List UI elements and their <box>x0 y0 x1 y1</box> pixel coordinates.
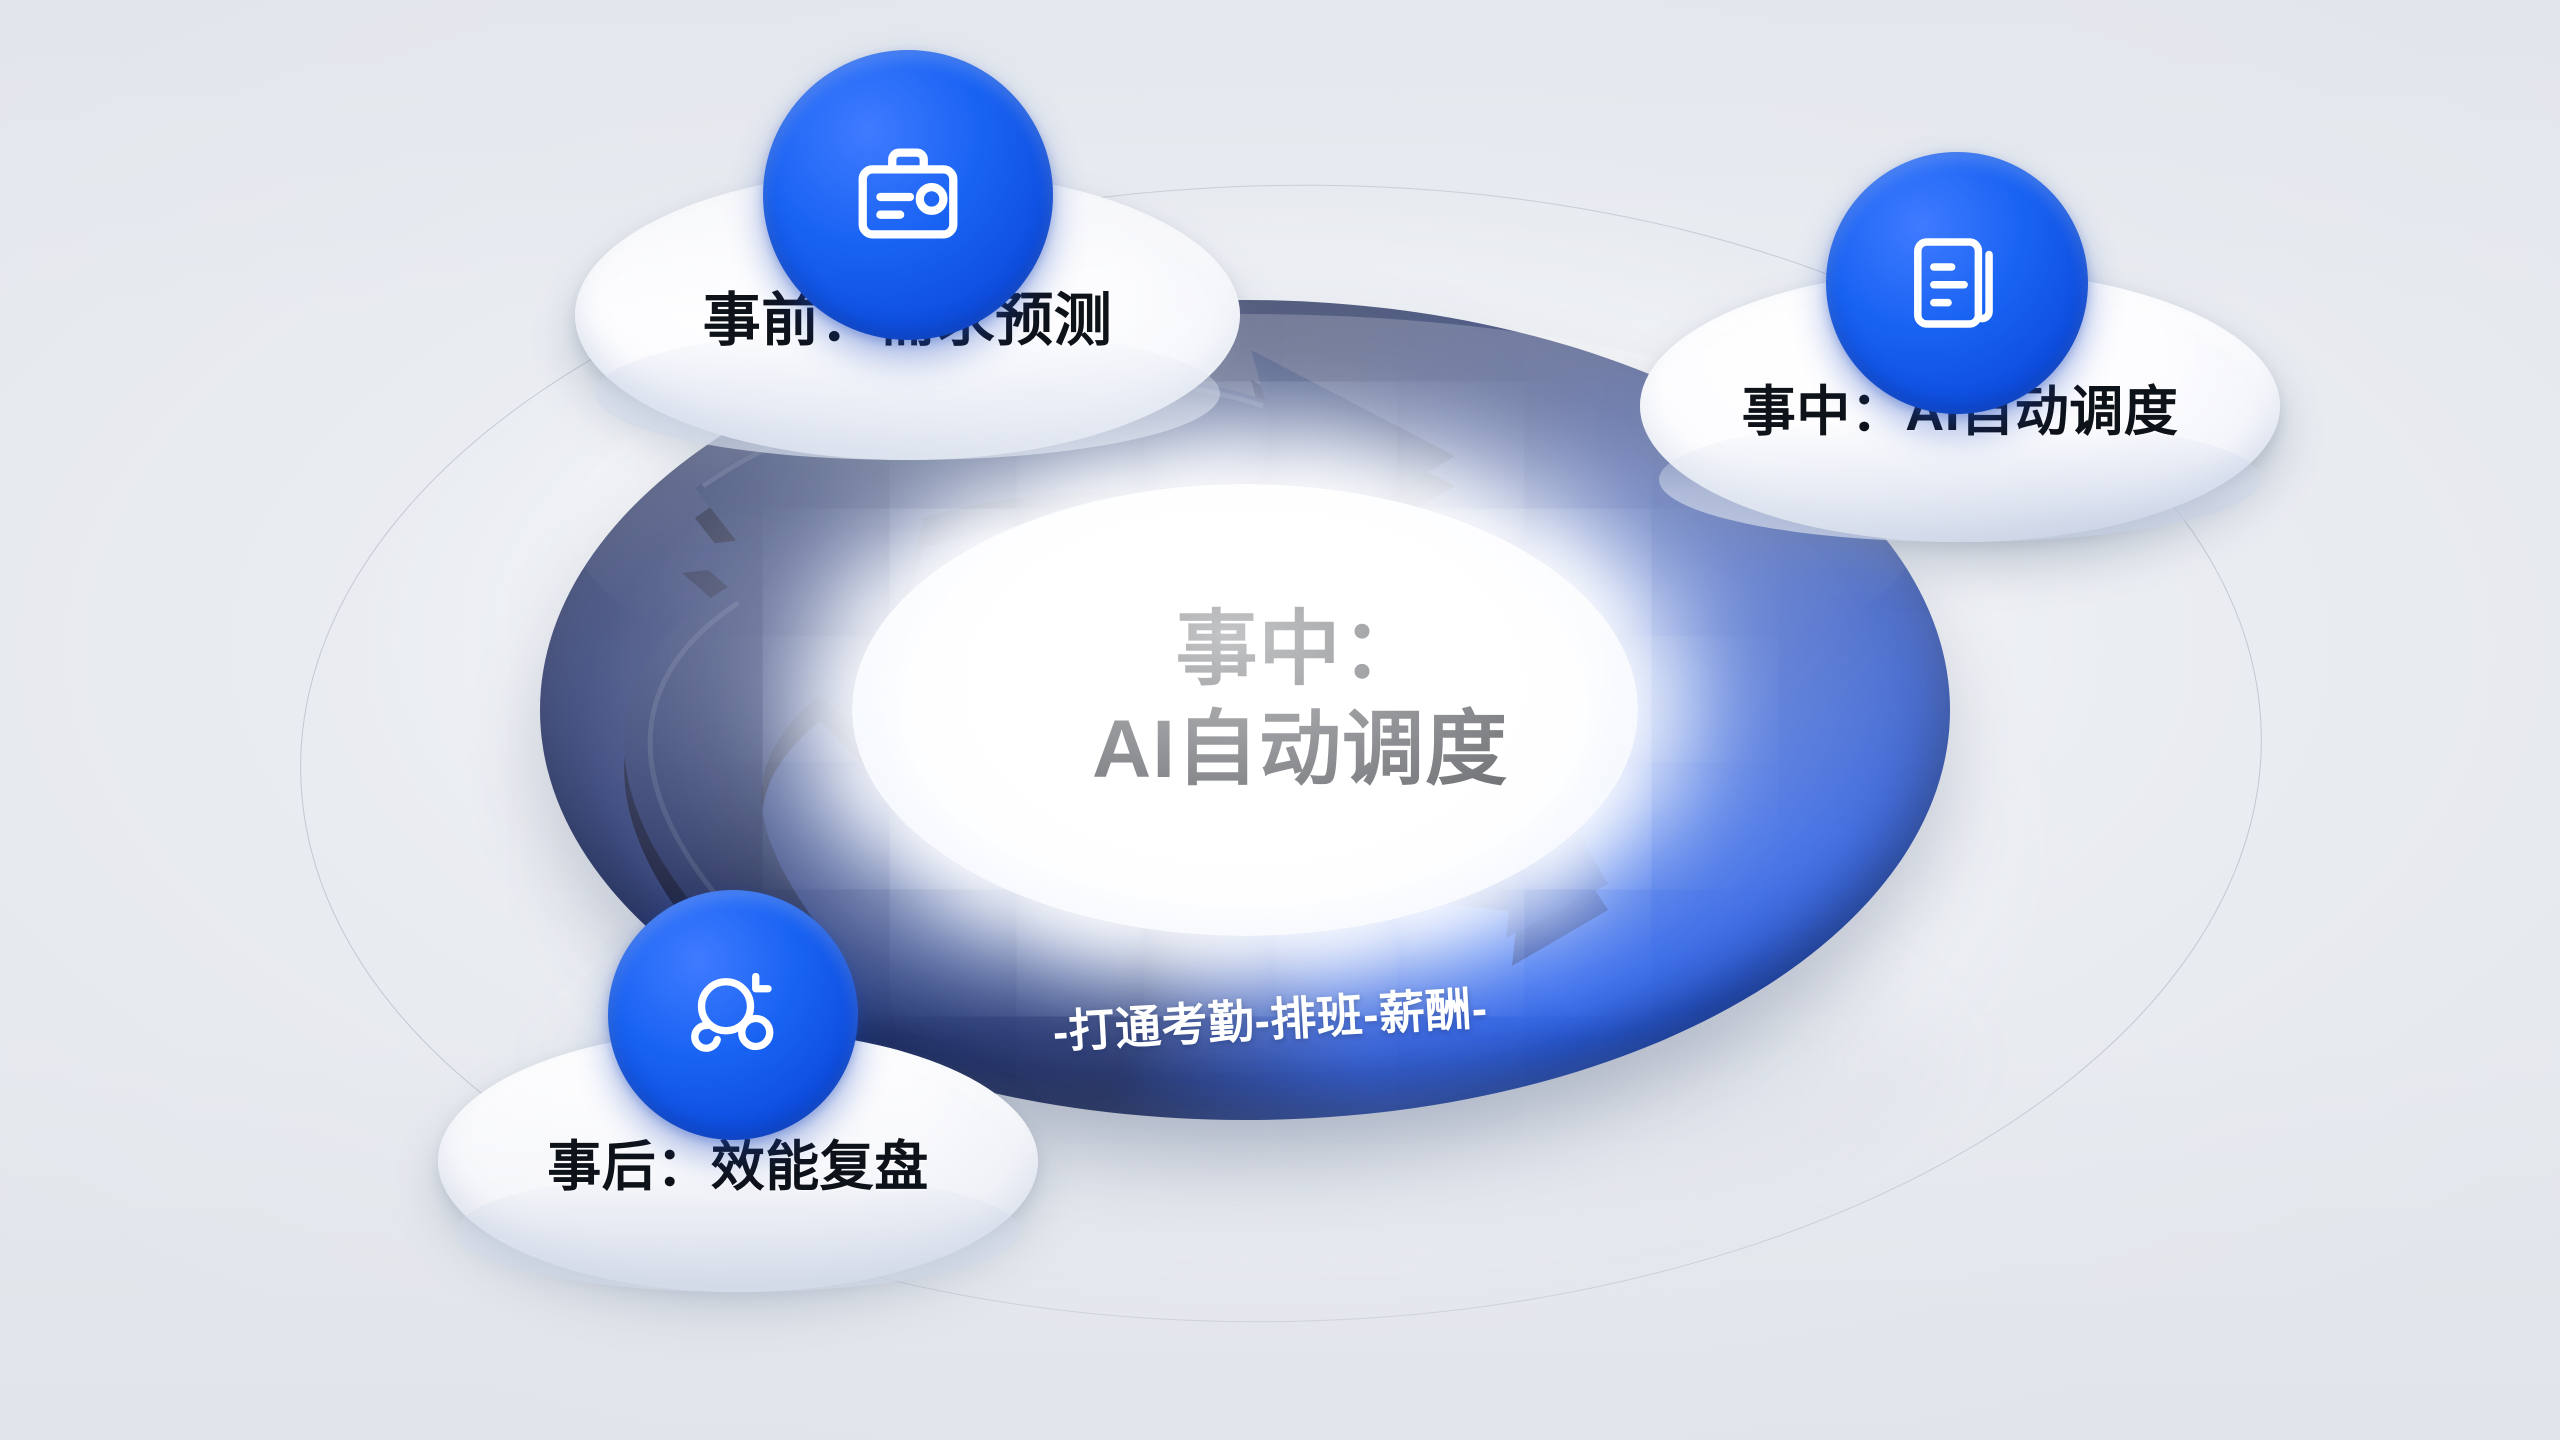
center-label-line1: 事中： <box>1175 604 1424 695</box>
briefcase-badge-icon <box>763 50 1053 340</box>
analytics-bubbles-icon <box>608 890 858 1140</box>
node-card-pre[interactable]: 事前：需求预测 <box>575 170 1240 460</box>
node-card-post[interactable]: 事后：效能复盘 <box>438 1030 1038 1292</box>
center-label-line2: AI自动调度 <box>1010 700 1590 800</box>
document-report-icon <box>1826 152 2088 414</box>
center-label: 事中： AI自动调度 <box>1010 600 1590 800</box>
node-card-mid[interactable]: 事中：AI自动调度 <box>1640 270 2280 542</box>
diagram-canvas: -打通考勤-排班-薪酬- 事中： AI自动调度 事前：需求预测 <box>0 0 2560 1440</box>
